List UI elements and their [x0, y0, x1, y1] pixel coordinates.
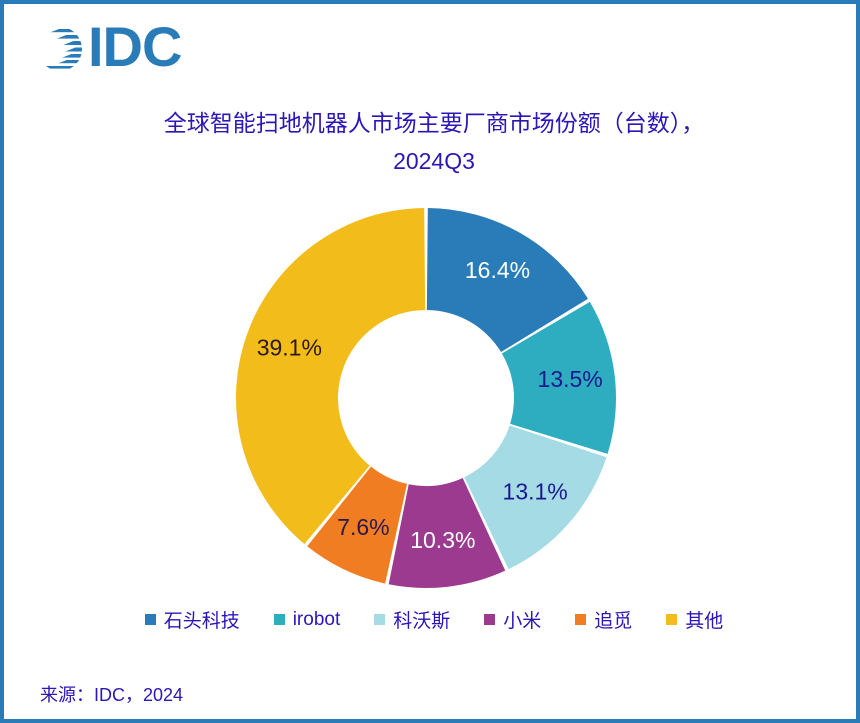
slice-value-label: 13.1%: [503, 479, 568, 505]
slice-value-label: 39.1%: [257, 334, 322, 360]
page-title: 全球智能扫地机器人市场主要厂商市场份额（台数）， 2024Q3: [109, 104, 759, 180]
chart-page: IDC 全球智能扫地机器人市场主要厂商市场份额（台数）， 2024Q3 16.4…: [0, 0, 860, 723]
legend-item[interactable]: 石头科技: [145, 606, 240, 633]
legend-item[interactable]: irobot: [274, 609, 341, 631]
slice-value-label: 10.3%: [410, 527, 475, 553]
legend-swatch-icon: [274, 614, 285, 625]
legend-swatch-icon: [374, 614, 385, 625]
idc-globe-icon: [34, 23, 86, 75]
legend-swatch-icon: [484, 614, 495, 625]
chart-title-line-2: 2024Q3: [109, 142, 759, 180]
legend-label: 小米: [503, 606, 541, 633]
donut-chart: 16.4%13.5%13.1%10.3%7.6%39.1%: [230, 202, 622, 594]
logo-wordmark: IDC: [88, 19, 181, 75]
legend-swatch-icon: [666, 614, 677, 625]
legend-label: 追觅: [594, 606, 632, 633]
slice-value-label: 7.6%: [337, 514, 389, 540]
legend-label: 石头科技: [164, 606, 240, 633]
donut-chart-svg: 16.4%13.5%13.1%10.3%7.6%39.1%: [230, 202, 622, 594]
slice-value-label: 13.5%: [538, 366, 603, 392]
legend-item[interactable]: 其他: [666, 606, 723, 633]
legend-item[interactable]: 科沃斯: [374, 606, 450, 633]
legend-item[interactable]: 小米: [484, 606, 541, 633]
idc-logo: IDC: [34, 18, 181, 80]
legend-swatch-icon: [145, 614, 156, 625]
legend-label: irobot: [293, 609, 341, 631]
legend-swatch-icon: [575, 614, 586, 625]
chart-legend: 石头科技irobot科沃斯小米追觅其他: [4, 606, 860, 633]
slice-value-label: 16.4%: [465, 257, 530, 283]
chart-title-line-1: 全球智能扫地机器人市场主要厂商市场份额（台数），: [109, 104, 759, 142]
legend-label: 其他: [685, 606, 723, 633]
source-note: 来源：IDC，2024: [40, 681, 183, 707]
legend-item[interactable]: 追觅: [575, 606, 632, 633]
legend-label: 科沃斯: [393, 606, 450, 633]
